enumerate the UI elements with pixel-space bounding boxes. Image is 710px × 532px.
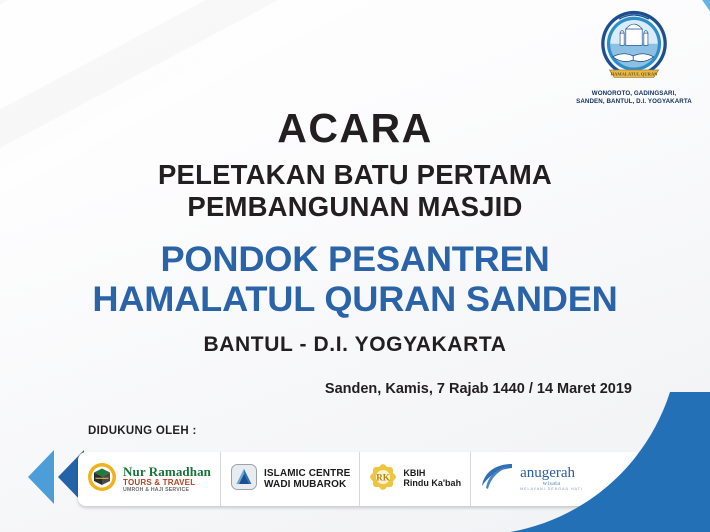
crest-icon: HAMALATUL QURAN: [593, 6, 675, 88]
event-subtitle-line-2: PEMBANGUNAN MASJID: [0, 191, 710, 223]
supporter-kbih-rindu-kabah[interactable]: RK KBIH Rindu Ka'bah: [359, 452, 470, 506]
supporter-line-2: Rindu Ka'bah: [403, 479, 461, 489]
rk-star-icon: RK: [369, 463, 397, 496]
supporter-nur-ramadhan[interactable]: Nur Ramadhan TOURS & TRAVEL UMROH & HAJI…: [78, 452, 220, 506]
supporter-line-2: WADI MUBAROK: [264, 479, 350, 490]
supporter-line-3: UMROH & HAJI SERVICE: [123, 488, 211, 494]
supporter-nur-ramadhan-text: Nur Ramadhan TOURS & TRAVEL UMROH & HAJI…: [123, 465, 211, 494]
institution-logo: HAMALATUL QURAN WONOROTO, GADINGSARI, SA…: [568, 6, 700, 107]
event-datetime: Sanden, Kamis, 7 Rajab 1440 / 14 Maret 2…: [0, 381, 710, 397]
svg-text:HAMALATUL QURAN: HAMALATUL QURAN: [611, 72, 659, 77]
logo-caption-line-2: SANDEN, BANTUL, D.I. YOGYAKARTA: [568, 98, 700, 106]
supporter-anugerah-wisata[interactable]: anugerah wisata MELAYANI DENGAN HATI: [470, 452, 592, 506]
supporter-line-1: Nur Ramadhan: [123, 465, 211, 479]
supporter-line-3: MELAYANI DENGAN HATI: [520, 488, 583, 492]
event-subtitle-line-1: PELETAKAN BATU PERTAMA: [0, 159, 710, 191]
supporters-label: DIDUKUNG OLEH :: [88, 425, 197, 437]
supporter-kbih-text: KBIH Rindu Ka'bah: [403, 469, 461, 489]
supporter-logo-bar: Nur Ramadhan TOURS & TRAVEL UMROH & HAJI…: [78, 452, 638, 506]
supporter-islamic-centre-wadi-mubarok[interactable]: ISLAMIC CENTRE WADI MUBAROK: [220, 452, 359, 506]
chevron-left-light-icon: [28, 450, 54, 504]
institution-name-line-2: HAMALATUL QURAN SANDEN: [0, 280, 710, 320]
event-label: ACARA: [0, 108, 710, 149]
supporter-line-1: ISLAMIC CENTRE: [264, 468, 350, 479]
rk-monogram: RK: [377, 472, 391, 482]
swoosh-icon: [480, 462, 514, 497]
kaaba-icon: [87, 462, 117, 497]
event-banner: Nur Ramadhan TOURS & TRAVEL UMROH & HAJI…: [0, 0, 710, 532]
institution-name-line-1: PONDOK PESANTREN: [0, 240, 710, 280]
logo-caption-line-1: WONOROTO, GADINGSARI,: [568, 90, 700, 98]
region-label: BANTUL - D.I. YOGYAKARTA: [0, 333, 710, 357]
supporter-line-1: anugerah: [520, 466, 583, 481]
supporter-islamic-centre-text: ISLAMIC CENTRE WADI MUBAROK: [264, 468, 350, 490]
mosque-arch-icon: [230, 463, 258, 496]
supporter-anugerah-text: anugerah wisata MELAYANI DENGAN HATI: [520, 466, 583, 492]
